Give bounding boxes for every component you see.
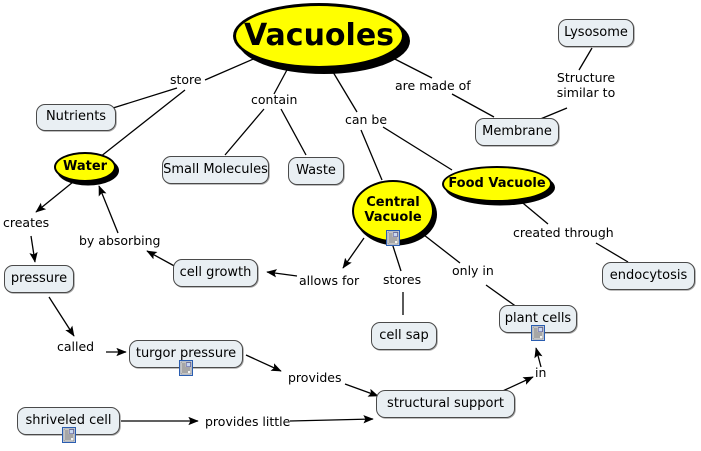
link-label-contain: contain: [251, 93, 297, 107]
node-small-molecules-label: Small Molecules: [163, 163, 268, 177]
note-icon[interactable]: [531, 325, 545, 341]
node-nutrients-label: Nutrients: [46, 110, 106, 124]
edge-centralvacuole-allowsfor: [343, 238, 364, 268]
edge-contain-smallmolecules: [225, 109, 264, 155]
edge-contain-waste: [281, 109, 306, 155]
node-shriveled-cell[interactable]: shriveled cell: [17, 407, 120, 435]
node-structural-support[interactable]: structural support: [376, 390, 515, 418]
edge-lysosome-structuresimilarto: [579, 48, 592, 70]
link-label-are-made-of: are made of: [395, 79, 471, 93]
edge-store-nutrients: [113, 88, 177, 108]
node-cell-sap[interactable]: cell sap: [371, 322, 437, 350]
edge-foodvacuole-createdthrough: [518, 199, 548, 224]
link-label-store: store: [170, 73, 202, 87]
link-label-only-in: only in: [452, 264, 494, 278]
node-central-vacuole-label: Central Vacuole: [360, 196, 426, 225]
link-label-creates: creates: [3, 216, 49, 230]
link-label-created-through: created through: [513, 226, 614, 240]
edge-vacuoles-canbe: [330, 67, 357, 112]
edge-centralvacuole-stores: [392, 243, 401, 271]
link-label-stores: stores: [383, 273, 421, 287]
node-lysosome[interactable]: Lysosome: [558, 19, 634, 47]
link-label-structure-similar-to: Structure similar to: [549, 71, 623, 101]
node-endocytosis-label: endocytosis: [610, 269, 688, 283]
node-pressure[interactable]: pressure: [4, 265, 74, 293]
link-label-allows-for: allows for: [299, 274, 359, 288]
node-cell-sap-label: cell sap: [379, 329, 429, 343]
node-shriveled-cell-label: shriveled cell: [25, 414, 111, 428]
edge-turgorpressure-provides: [246, 355, 281, 371]
node-water[interactable]: Water: [54, 152, 116, 182]
edge-provideslittle-structuralsupport: [290, 419, 373, 421]
edge-water-creates: [36, 182, 73, 212]
edge-pressure-called: [49, 297, 74, 336]
note-icon[interactable]: [386, 230, 400, 246]
node-plant-cells-label: plant cells: [505, 312, 571, 326]
node-structural-support-label: structural support: [387, 397, 504, 411]
node-lysosome-label: Lysosome: [564, 26, 628, 40]
edge-vacuoles-store: [205, 57, 258, 80]
edge-vacuoles-contain: [274, 68, 288, 94]
node-membrane-label: Membrane: [482, 125, 552, 139]
concept-map-canvas: Vacuoles Nutrients Water Small Molecules…: [0, 0, 701, 451]
node-endocytosis[interactable]: endocytosis: [602, 262, 695, 290]
node-cell-growth[interactable]: cell growth: [173, 259, 258, 287]
node-waste[interactable]: Waste: [288, 157, 344, 185]
node-plant-cells[interactable]: plant cells: [499, 305, 577, 333]
edge-creates-pressure: [31, 236, 35, 262]
node-water-label: Water: [63, 160, 107, 174]
note-icon[interactable]: [179, 360, 193, 376]
edge-createdthrough-endocytosis: [596, 243, 628, 262]
node-central-vacuole[interactable]: Central Vacuole: [352, 180, 434, 242]
edge-centralvacuole-onlyin: [424, 235, 460, 263]
node-vacuoles[interactable]: Vacuoles: [233, 3, 405, 69]
node-food-vacuole[interactable]: Food Vacuole: [442, 166, 552, 202]
node-nutrients[interactable]: Nutrients: [36, 104, 116, 131]
node-turgor-pressure-label: turgor pressure: [136, 347, 236, 361]
node-turgor-pressure[interactable]: turgor pressure: [129, 340, 243, 368]
node-pressure-label: pressure: [11, 272, 67, 286]
node-waste-label: Waste: [296, 164, 336, 178]
link-label-by-absorbing: by absorbing: [79, 234, 160, 248]
node-membrane[interactable]: Membrane: [475, 118, 559, 146]
node-food-vacuole-label: Food Vacuole: [448, 177, 545, 191]
edge-canbe-centralvacuole: [361, 130, 382, 180]
link-label-provides: provides: [288, 371, 341, 385]
link-label-in: in: [535, 366, 546, 380]
link-label-called: called: [57, 340, 94, 354]
edge-aremadeof-membrane: [452, 94, 494, 117]
note-icon[interactable]: [62, 427, 76, 443]
link-label-can-be: can be: [345, 113, 387, 127]
node-cell-growth-label: cell growth: [180, 266, 252, 280]
edge-provides-structuralsupport: [345, 384, 378, 396]
node-vacuoles-label: Vacuoles: [244, 20, 394, 52]
edge-vacuoles-aremadeof: [383, 53, 432, 78]
edge-canbe-foodvacuole: [383, 127, 452, 170]
edge-byabsorbing-water: [99, 186, 118, 233]
node-small-molecules[interactable]: Small Molecules: [162, 156, 269, 184]
edge-allowsfor-cellgrowth: [267, 272, 297, 276]
link-label-provides-little: provides little: [205, 415, 290, 429]
